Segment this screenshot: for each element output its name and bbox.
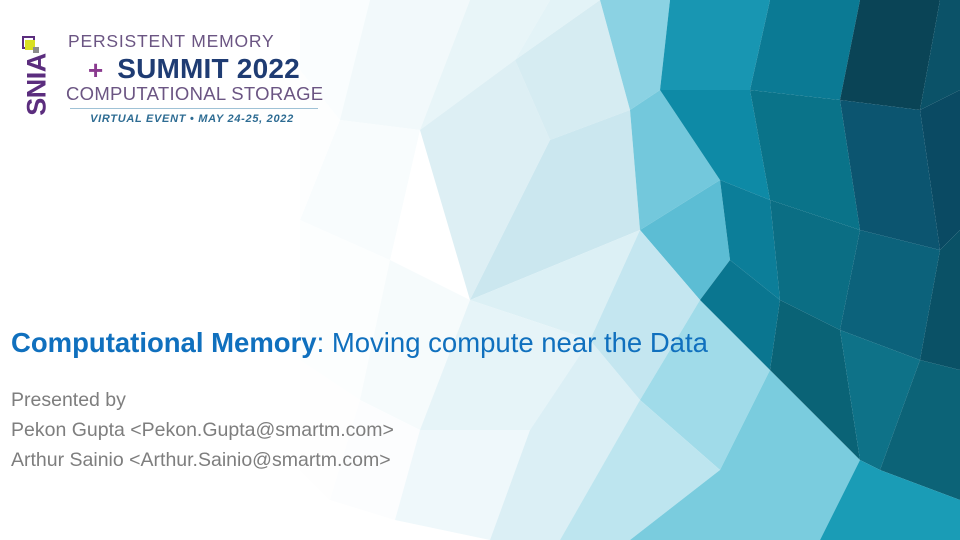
slide-canvas: SNIA PERSISTENT MEMORY +SUMMIT 2022 COMP… <box>0 0 960 540</box>
logo-divider <box>70 108 318 109</box>
presenter-block: Presented by Pekon Gupta <Pekon.Gupta@sm… <box>11 385 394 476</box>
snia-logo-text-block: PERSISTENT MEMORY +SUMMIT 2022 COMPUTATI… <box>66 33 328 125</box>
page-title-emphasis: Computational Memory <box>11 327 317 358</box>
page-title-subject: : Moving compute near the Data <box>317 327 708 358</box>
page-title: Computational Memory: Moving compute nea… <box>11 328 708 358</box>
snia-event-logo: SNIA PERSISTENT MEMORY +SUMMIT 2022 COMP… <box>18 33 328 143</box>
snia-logo-mark: SNIA <box>18 33 64 138</box>
logo-summit-line: +SUMMIT 2022 <box>66 55 328 83</box>
presented-by-label: Presented by <box>11 385 394 415</box>
snia-wordmark: SNIA <box>24 47 51 123</box>
presenter-two: Arthur Sainio <Arthur.Sainio@smartm.com> <box>11 445 394 475</box>
poly-triangles <box>300 0 960 540</box>
low-poly-artwork <box>300 0 960 540</box>
logo-persistent-memory: PERSISTENT MEMORY <box>66 33 328 51</box>
logo-summit-2022: SUMMIT 2022 <box>103 55 300 83</box>
presenter-one: Pekon Gupta <Pekon.Gupta@smartm.com> <box>11 415 394 445</box>
logo-plus-sign: + <box>66 57 103 83</box>
logo-computational-storage: COMPUTATIONAL STORAGE <box>66 85 328 104</box>
logo-event-details: VIRTUAL EVENT • MAY 24-25, 2022 <box>66 114 318 125</box>
